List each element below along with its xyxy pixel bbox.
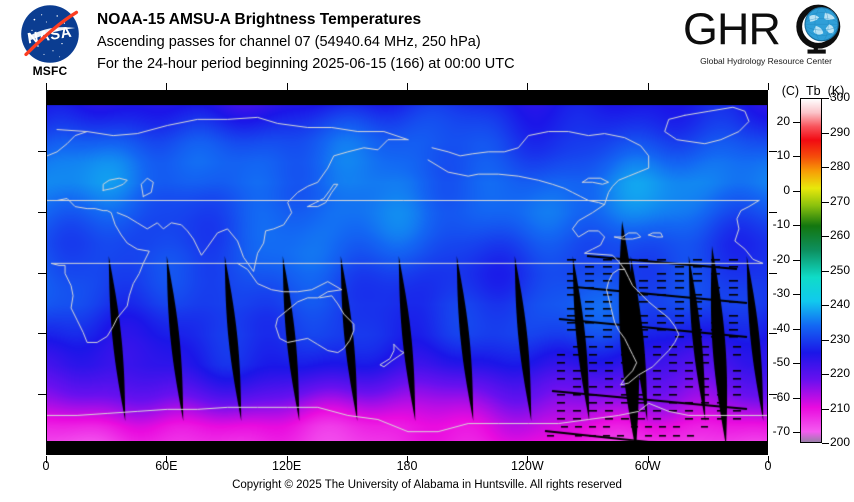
colorbar-tick-kelvin bbox=[822, 409, 829, 410]
colorbar-label-kelvin: 230 bbox=[830, 332, 850, 346]
title-block: NOAA-15 AMSU-A Brightness Temperatures A… bbox=[97, 9, 677, 75]
colorbar-label-celsius: 0 bbox=[783, 183, 790, 197]
longitude-label: 120E bbox=[257, 459, 317, 473]
colorbar-tick-celsius bbox=[793, 225, 800, 226]
colorbar-tick-kelvin bbox=[822, 167, 829, 168]
latitude-tick bbox=[38, 212, 46, 213]
title-subtitle-period: For the 24-hour period beginning 2025-06… bbox=[97, 53, 677, 75]
longitude-tick-top bbox=[768, 83, 769, 90]
colorbar-label-kelvin: 240 bbox=[830, 297, 850, 311]
colorbar-label-kelvin: 280 bbox=[830, 159, 850, 173]
longitude-tick-top bbox=[407, 83, 408, 90]
ghrc-tagline: Global Hydrology Resource Center bbox=[683, 56, 849, 66]
latitude-tick-right bbox=[769, 273, 777, 274]
nasa-center-label: MSFC bbox=[14, 64, 86, 78]
longitude-label: 60W bbox=[618, 459, 678, 473]
colorbar-tick-celsius bbox=[793, 398, 800, 399]
longitude-tick-top bbox=[166, 83, 167, 90]
nasa-logo: NASA MSFC bbox=[14, 4, 86, 82]
colorbar-label-kelvin: 250 bbox=[830, 263, 850, 277]
latitude-tick bbox=[38, 394, 46, 395]
colorbar-label-kelvin: 260 bbox=[830, 228, 850, 242]
colorbar-tick-celsius bbox=[793, 294, 800, 295]
svg-text:GHR: GHR bbox=[683, 4, 780, 54]
longitude-label: 0 bbox=[16, 459, 76, 473]
colorbar-label-kelvin: 290 bbox=[830, 125, 850, 139]
colorbar-unit-celsius: (C) bbox=[782, 84, 799, 98]
colorbar-tick-celsius bbox=[793, 122, 800, 123]
map-plot-area[interactable] bbox=[46, 90, 768, 455]
latitude-tick-right bbox=[769, 212, 777, 213]
colorbar-label-kelvin: 270 bbox=[830, 194, 850, 208]
page-title: NOAA-15 AMSU-A Brightness Temperatures bbox=[97, 9, 677, 31]
title-subtitle-channel: Ascending passes for channel 07 (54940.6… bbox=[97, 31, 677, 53]
colorbar-label-celsius: -10 bbox=[773, 217, 790, 231]
colorbar-label-celsius: -50 bbox=[773, 355, 790, 369]
colorbar-tick-kelvin bbox=[822, 133, 829, 134]
colorbar-label-kelvin: 300 bbox=[830, 90, 850, 104]
colorbar-tick-celsius bbox=[793, 156, 800, 157]
colorbar-label-celsius: -30 bbox=[773, 286, 790, 300]
colorbar-tick-kelvin bbox=[822, 443, 829, 444]
brightness-temperature-raster bbox=[47, 91, 768, 455]
colorbar-tick-kelvin bbox=[822, 202, 829, 203]
colorbar-label-celsius: 20 bbox=[777, 114, 790, 128]
ghrc-wordmark-icon: GHR bbox=[683, 4, 849, 56]
latitude-tick bbox=[38, 333, 46, 334]
colorbar-label-celsius: -20 bbox=[773, 252, 790, 266]
colorbar-tick-kelvin bbox=[822, 374, 829, 375]
colorbar-tick-celsius bbox=[793, 432, 800, 433]
colorbar-tick-kelvin bbox=[822, 271, 829, 272]
colorbar-tick-celsius bbox=[793, 191, 800, 192]
colorbar-label-kelvin: 210 bbox=[830, 401, 850, 415]
colorbar-tick-kelvin bbox=[822, 236, 829, 237]
colorbar-gradient bbox=[801, 99, 821, 442]
colorbar-tick-celsius bbox=[793, 329, 800, 330]
colorbar-tick-kelvin bbox=[822, 305, 829, 306]
colorbar-tick-kelvin bbox=[822, 98, 829, 99]
longitude-tick-top bbox=[46, 83, 47, 90]
colorbar-tick-kelvin bbox=[822, 340, 829, 341]
colorbar-label-kelvin: 220 bbox=[830, 366, 850, 380]
longitude-label: 60E bbox=[136, 459, 196, 473]
longitude-tick-top bbox=[287, 83, 288, 90]
longitude-label: 180 bbox=[377, 459, 437, 473]
longitude-tick-top bbox=[648, 83, 649, 90]
longitude-label: 120W bbox=[497, 459, 557, 473]
map-north-nodata-band bbox=[47, 91, 767, 105]
longitude-label: 0 bbox=[738, 459, 798, 473]
colorbar bbox=[800, 98, 822, 443]
nasa-meatball-icon: NASA bbox=[20, 4, 80, 64]
colorbar-label-celsius: -70 bbox=[773, 424, 790, 438]
colorbar-tick-celsius bbox=[793, 363, 800, 364]
colorbar-label-kelvin: 200 bbox=[830, 435, 850, 449]
longitude-tick-top bbox=[527, 83, 528, 90]
colorbar-variable: Tb bbox=[806, 84, 821, 98]
colorbar-label-celsius: 10 bbox=[777, 148, 790, 162]
colorbar-tick-celsius bbox=[793, 260, 800, 261]
latitude-tick bbox=[38, 151, 46, 152]
colorbar-label-celsius: -40 bbox=[773, 321, 790, 335]
colorbar-label-celsius: -60 bbox=[773, 390, 790, 404]
ghrc-logo: GHR Global Hydrology Resource Center bbox=[683, 4, 849, 76]
copyright-footer: Copyright © 2025 The University of Alaba… bbox=[0, 479, 854, 491]
map-south-nodata-band bbox=[47, 441, 767, 454]
latitude-tick bbox=[38, 273, 46, 274]
